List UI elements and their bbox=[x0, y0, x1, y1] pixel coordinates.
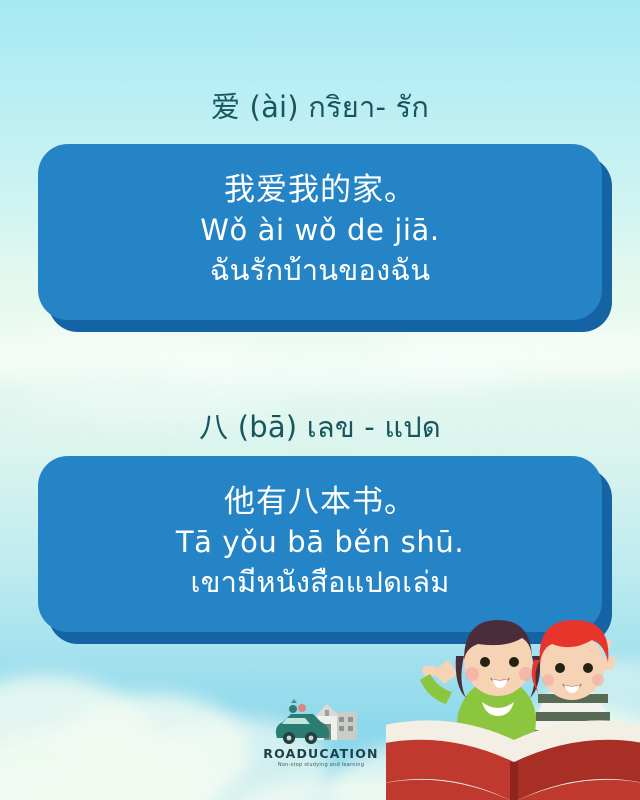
two-kids-on-open-book-icon bbox=[386, 598, 640, 800]
brand-logo: ROADUCATION Non-stop studying and learni… bbox=[255, 698, 387, 768]
entry-heading-1: 爱 (ài) กริยา- รัก bbox=[0, 84, 640, 130]
card-hanzi-line: 我爱我的家。 bbox=[68, 170, 572, 211]
card-face: 我爱我的家。 Wǒ ài wǒ de jiā. ฉันรักบ้านของฉัน bbox=[38, 144, 602, 320]
card-thai-line: ฉันรักบ้านของฉัน bbox=[68, 250, 572, 290]
logo-tagline: Non-stop studying and learning bbox=[255, 762, 387, 768]
sentence-card-1: 我爱我的家。 Wǒ ài wǒ de jiā. ฉันรักบ้านของฉัน bbox=[38, 144, 602, 320]
card-hanzi-line: 他有八本书。 bbox=[68, 482, 572, 523]
car-and-school-icon bbox=[269, 698, 373, 744]
card-pinyin-line: Tā yǒu bā běn shū. bbox=[68, 523, 572, 562]
poster-canvas: 爱 (ài) กริยา- รัก 我爱我的家。 Wǒ ài wǒ de jiā… bbox=[0, 0, 640, 800]
card-pinyin-line: Wǒ ài wǒ de jiā. bbox=[68, 211, 572, 250]
entry-heading-2: 八 (bā) เลข - แปด bbox=[0, 404, 640, 450]
card-thai-line: เขามีหนังสือแปดเล่ม bbox=[68, 562, 572, 602]
logo-name: ROADUCATION bbox=[255, 746, 387, 761]
